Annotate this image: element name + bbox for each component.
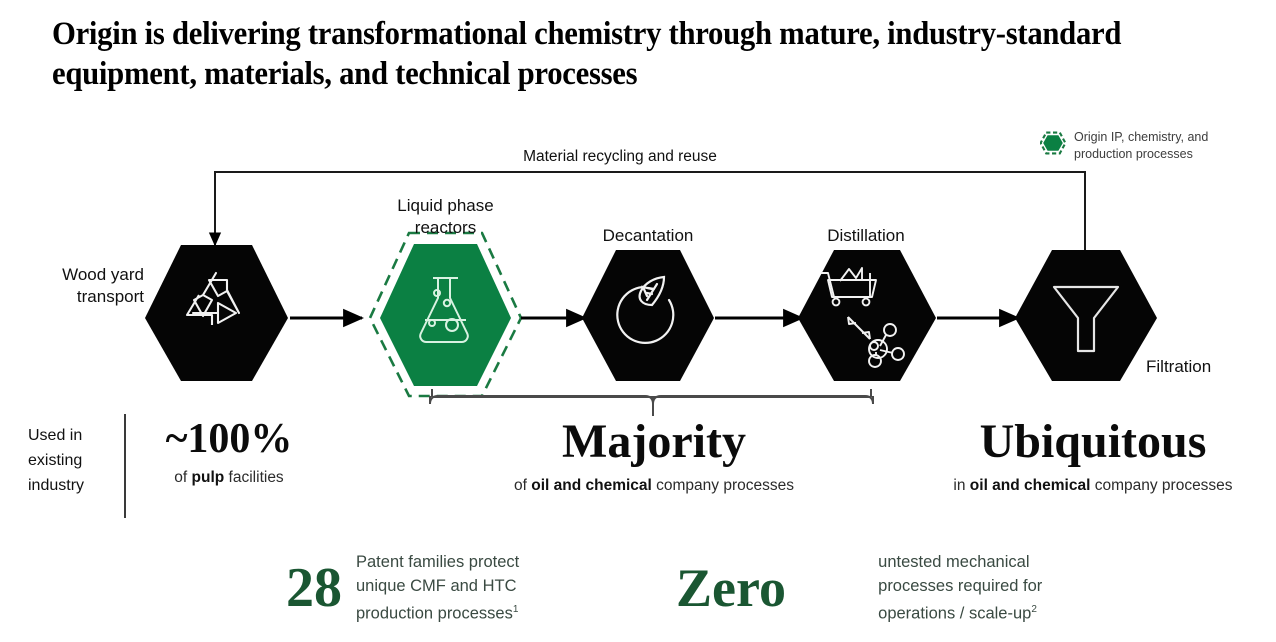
hex-node-distillation bbox=[798, 250, 936, 381]
hex-node-decantation bbox=[582, 250, 714, 381]
stat-value-ubiquitous: Ubiquitous bbox=[938, 418, 1248, 466]
green-stat-body: Patent families protect unique CMF and H… bbox=[356, 553, 519, 623]
node-label-filtration: Filtration bbox=[1146, 356, 1266, 378]
green-stat-number-zero: Zero bbox=[676, 561, 864, 615]
cart-molecule-icon bbox=[821, 268, 904, 367]
majority-bracket bbox=[430, 389, 873, 416]
stat-caption-suffix: facilities bbox=[224, 469, 283, 486]
slide-canvas: Origin is delivering transformational ch… bbox=[0, 0, 1276, 642]
stat-value-pulp: ~100% bbox=[134, 418, 324, 460]
stat-caption-suffix: company processes bbox=[652, 477, 794, 494]
leaf-cycle-icon bbox=[617, 277, 673, 343]
hex-node-filtration bbox=[1015, 250, 1157, 381]
node-label-wood-yard: Wood yardtransport bbox=[22, 264, 144, 308]
hex-node-liquid-phase-reactors bbox=[370, 233, 521, 396]
funnel-icon bbox=[1054, 287, 1118, 351]
green-stat-zero: Zero untested mechanical processes requi… bbox=[676, 550, 1096, 626]
node-label-distillation: Distillation bbox=[787, 225, 945, 247]
recycling-loop-label: Material recycling and reuse bbox=[440, 148, 800, 166]
stat-caption-bold: pulp bbox=[192, 469, 225, 486]
stat-block-majority: Majority of oil and chemical company pro… bbox=[448, 418, 860, 496]
flow-graphics bbox=[0, 0, 1276, 642]
stat-block-pulp: ~100% of pulp facilities bbox=[134, 418, 324, 488]
flask-icon bbox=[420, 278, 468, 342]
footnote-marker: 1 bbox=[513, 604, 519, 615]
green-stat-patents: 28 Patent families protect unique CMF an… bbox=[286, 550, 586, 626]
green-stat-body: untested mechanical processes required f… bbox=[878, 553, 1042, 623]
footnote-marker: 2 bbox=[1031, 604, 1037, 615]
stat-caption-prefix: in bbox=[953, 477, 969, 494]
stat-caption-bold: oil and chemical bbox=[531, 477, 652, 494]
used-in-existing-industry-label: Used in existing industry bbox=[28, 423, 120, 498]
stat-caption-pulp: of pulp facilities bbox=[134, 467, 324, 488]
green-stat-text-zero: untested mechanical processes required f… bbox=[878, 550, 1096, 626]
stat-caption-ubiquitous: in oil and chemical company processes bbox=[938, 475, 1248, 496]
node-label-decantation: Decantation bbox=[568, 225, 728, 247]
stat-caption-majority: of oil and chemical company processes bbox=[448, 475, 860, 496]
process-flow-diagram: Material recycling and reuse Wood yardtr… bbox=[0, 0, 1276, 642]
stat-block-ubiquitous: Ubiquitous in oil and chemical company p… bbox=[938, 418, 1248, 496]
node-label-liquid-phase-reactors: Liquid phasereactors bbox=[358, 195, 533, 239]
green-stat-number-patents: 28 bbox=[286, 560, 342, 616]
stat-caption-bold: oil and chemical bbox=[970, 477, 1091, 494]
stat-caption-prefix: of bbox=[174, 469, 191, 486]
hex-node-wood-yard bbox=[145, 245, 288, 381]
green-stat-text-patents: Patent families protect unique CMF and H… bbox=[356, 550, 556, 626]
stat-caption-suffix: company processes bbox=[1090, 477, 1232, 494]
stat-value-majority: Majority bbox=[448, 418, 860, 466]
recycle-icon bbox=[187, 273, 239, 325]
stats-divider bbox=[124, 414, 126, 518]
stat-caption-prefix: of bbox=[514, 477, 531, 494]
